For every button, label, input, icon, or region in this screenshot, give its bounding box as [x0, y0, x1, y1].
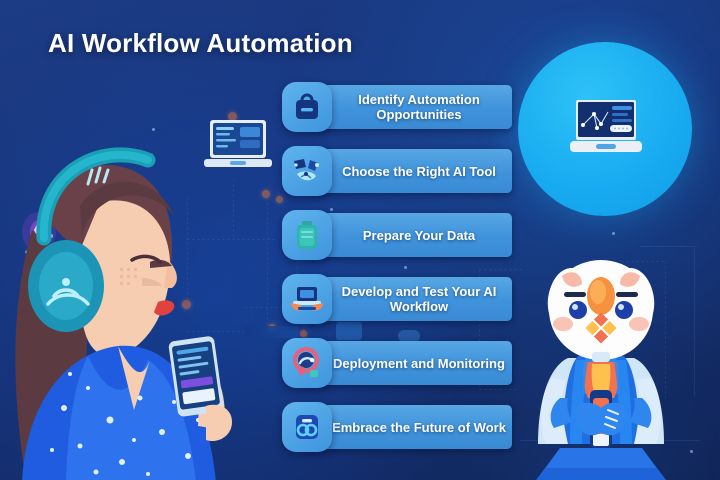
- step-item-3[interactable]: Prepare Your Data: [282, 210, 512, 260]
- step-item-1[interactable]: Identify Automation Opportunities: [282, 82, 512, 132]
- step-item-5[interactable]: Deployment and Monitoring: [282, 338, 512, 388]
- hero-laptop-network-icon: [570, 100, 642, 154]
- step-label: Prepare Your Data: [324, 210, 514, 260]
- dashboard-gauge-icon: [282, 338, 332, 388]
- step-item-4[interactable]: Develop and Test Your AI Workflow: [282, 274, 512, 324]
- steps-list: Identify Automation Opportunities Choo: [282, 82, 512, 466]
- step-label: Develop and Test Your AI Workflow: [324, 274, 514, 324]
- robot-face-icon: [282, 402, 332, 452]
- step-item-2[interactable]: Choose the Right AI Tool: [282, 146, 512, 196]
- step-label: Embrace the Future of Work: [324, 402, 514, 452]
- step-label: Deployment and Monitoring: [324, 338, 514, 388]
- robot-mascot-illustration: [516, 248, 686, 480]
- shopping-bag-icon: [282, 82, 332, 132]
- step-label: Choose the Right AI Tool: [324, 146, 514, 196]
- page-title: AI Workflow Automation: [48, 28, 353, 59]
- laptop-hands-icon: [282, 274, 332, 324]
- ai-network-icon: [282, 146, 332, 196]
- infographic-canvas: AI Workflow Automation: [0, 0, 720, 480]
- step-item-6[interactable]: Embrace the Future of Work: [282, 402, 512, 452]
- database-icon: [282, 210, 332, 260]
- step-label: Identify Automation Opportunities: [324, 82, 514, 132]
- center-laptop-illustration: [202, 118, 274, 178]
